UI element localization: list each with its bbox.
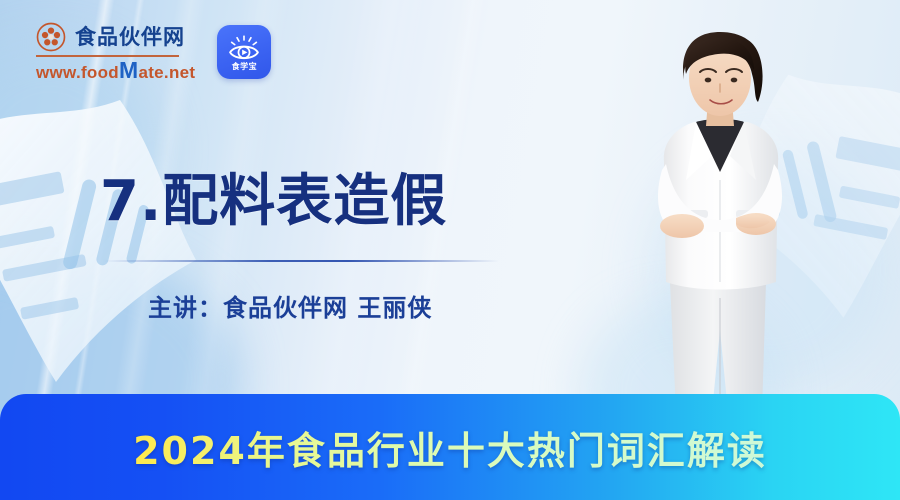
shixuebao-app-icon[interactable]: 食学宝	[217, 25, 271, 79]
app-icon-label: 食学宝	[232, 63, 258, 71]
flower-emblem-icon	[36, 22, 66, 52]
brand-url: www.foodMate.net	[36, 59, 195, 82]
course-title-slide: 食品伙伴网 www.foodMate.net 食学宝 7.配	[0, 0, 900, 500]
brand-url-suffix: ate.net	[138, 63, 195, 82]
banner-headline: 2024年食品行业十大热门词汇解读	[133, 420, 767, 475]
brand-name-cn: 食品伙伴网	[75, 27, 185, 48]
eye-play-rays-icon	[227, 35, 261, 62]
presenter-subtitle: 主讲：食品伙伴网 王丽侠	[148, 288, 499, 323]
bottom-banner: 2024年食品行业十大热门词汇解读	[0, 394, 900, 500]
brand-row: 食品伙伴网 www.foodMate.net 食学宝	[36, 22, 271, 82]
page-title: 7.配料表造假	[100, 172, 499, 232]
presenter-photo	[616, 30, 826, 412]
logo-divider	[36, 55, 179, 57]
title-block: 7.配料表造假 主讲：食品伙伴网 王丽侠	[100, 172, 499, 323]
title-divider	[103, 260, 499, 262]
brand-url-prefix: www.food	[36, 63, 119, 82]
brand-url-highlight: M	[119, 57, 138, 83]
foodmate-logo[interactable]: 食品伙伴网 www.foodMate.net	[36, 22, 195, 82]
